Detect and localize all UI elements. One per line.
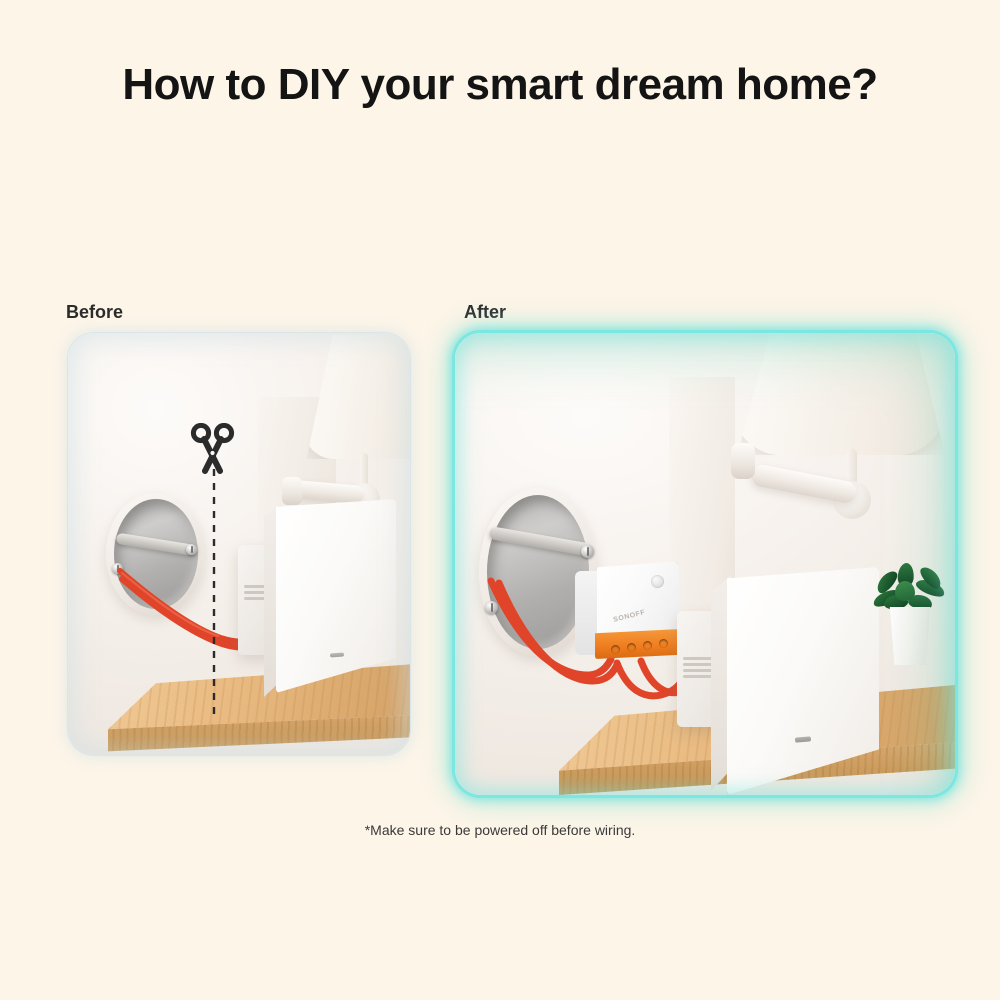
panel-before [68, 333, 410, 755]
plant-leaf [895, 581, 915, 601]
scene-before [68, 333, 410, 755]
footnote: *Make sure to be powered off before wiri… [0, 822, 1000, 838]
plant-pot [887, 607, 933, 665]
page-root: How to DIY your smart dream home? Before [0, 0, 1000, 1000]
page-title: How to DIY your smart dream home? [0, 60, 1000, 110]
succulent-plant [873, 561, 945, 679]
scissors-icon [190, 423, 236, 475]
cut-guide-line [208, 469, 220, 721]
switch-vent-slots [683, 657, 715, 678]
wooden-shelf [108, 663, 410, 755]
panel-label-after: After [464, 302, 506, 323]
panel-after: SONOFF [455, 333, 955, 795]
scene-after: SONOFF [455, 333, 955, 795]
panel-label-before: Before [66, 302, 123, 323]
